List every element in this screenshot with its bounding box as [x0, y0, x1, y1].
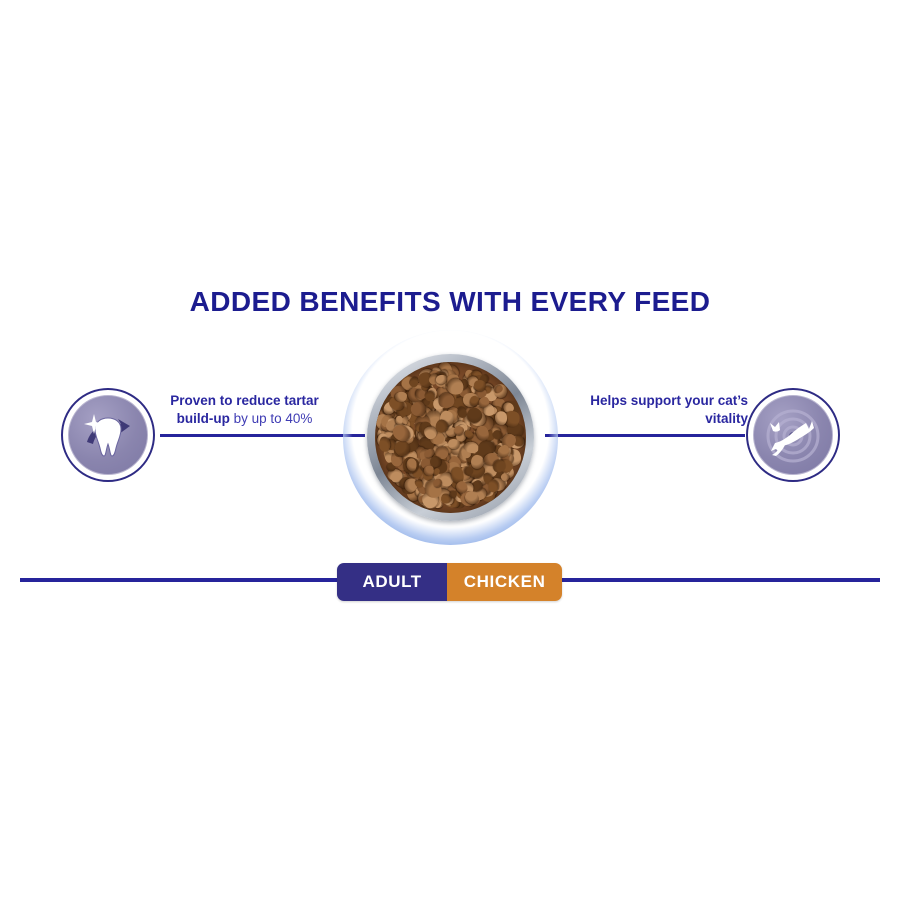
benefit-icon-right	[746, 388, 840, 482]
tooth-sparkle-icon	[68, 395, 148, 475]
product-badge: ADULT CHICKEN	[337, 563, 562, 601]
benefit-left-light: by up to 40%	[230, 411, 313, 426]
kibble-fill	[375, 362, 526, 513]
badge-segment-adult: ADULT	[337, 563, 447, 601]
benefit-text-left: Proven to reduce tartar build-up by up t…	[152, 392, 337, 428]
badge-segment-chicken: CHICKEN	[447, 563, 562, 601]
leaping-cat-ripple-icon	[753, 395, 833, 475]
benefit-right-strong: Helps support your cat’s vitality	[590, 393, 748, 426]
page-title: ADDED BENEFITS WITH EVERY FEED	[0, 286, 900, 318]
benefit-icon-left	[61, 388, 155, 482]
connector-line-right	[545, 434, 745, 437]
benefit-text-right: Helps support your cat’s vitality	[563, 392, 748, 428]
connector-line-left	[160, 434, 365, 437]
kibble-bowl-image	[343, 330, 558, 545]
bowl-rim	[367, 354, 534, 521]
